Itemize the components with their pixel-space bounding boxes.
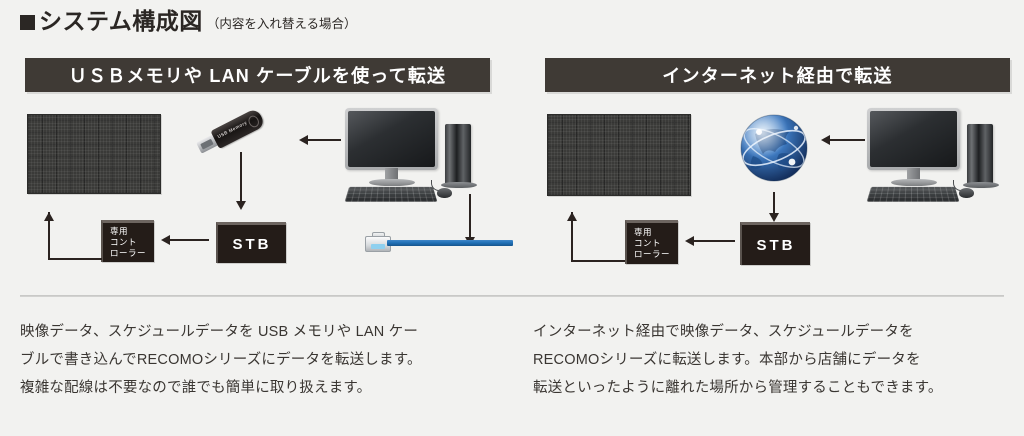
caption-line: ブルで書き込んでRECOMOシリーズにデータを転送します。: [20, 346, 490, 374]
caption-line: 映像データ、スケジュールデータを USB メモリや LAN ケー: [20, 318, 490, 346]
caption-line: 複雑な配線は不要なので誰でも簡単に取り扱えます。: [20, 374, 490, 402]
controller-line-2: コント: [110, 237, 137, 248]
arrow-controller-to-panel: [48, 212, 102, 260]
pc-tower-icon: [445, 124, 471, 186]
pc-tower-base: [441, 182, 477, 188]
monitor-stand-base: [891, 179, 937, 186]
arrow-controller-to-panel: [571, 212, 625, 262]
stb-box: STB: [740, 222, 810, 265]
system-diagram-page: システム構成図 （内容を入れ替える場合） ＵＳＢメモリや LAN ケーブルを使っ…: [0, 0, 1024, 436]
controller-line-1: 専用: [110, 226, 128, 237]
column-header-usb-lan: ＵＳＢメモリや LAN ケーブルを使って転送: [25, 58, 490, 92]
column-usb-lan: ＵＳＢメモリや LAN ケーブルを使って転送 USB Memory: [25, 58, 495, 308]
diagram-internet: STB 専用 コント ローラー: [545, 102, 1015, 302]
led-display-panel: [547, 114, 691, 196]
controller-line-3: ローラー: [110, 248, 146, 259]
section-divider: [20, 295, 1004, 297]
page-title-main: システム構成図: [39, 10, 203, 33]
keyboard-icon: [345, 187, 438, 202]
arrow-pc-to-usb: [299, 134, 341, 146]
pc-tower-icon: [967, 124, 993, 186]
dedicated-controller-box: 専用 コント ローラー: [625, 220, 678, 264]
caption-line: RECOMOシリーズに転送します。本部から店舗にデータを: [533, 346, 1003, 374]
caption-usb-lan: 映像データ、スケジュールデータを USB メモリや LAN ケー ブルで書き込ん…: [20, 318, 490, 402]
title-bullet-icon: [20, 15, 35, 30]
controller-line-2: コント: [634, 238, 661, 249]
caption-line: インターネット経由で映像データ、スケジュールデータを: [533, 318, 1003, 346]
keyboard-icon: [867, 187, 960, 202]
mouse-icon: [959, 188, 974, 198]
column-internet: インターネット経由で転送: [545, 58, 1015, 308]
led-display-panel: [27, 114, 161, 194]
page-title-sub: （内容を入れ替える場合）: [207, 13, 357, 32]
monitor-icon: [867, 108, 960, 170]
arrow-stb-to-controller: [161, 234, 209, 246]
controller-line-1: 専用: [634, 227, 652, 238]
header-bar-label: ＵＳＢメモリや LAN ケーブルを使って転送: [25, 58, 490, 92]
mouse-icon: [437, 188, 452, 198]
globe-svg: [735, 108, 813, 186]
monitor-screen: [348, 111, 435, 167]
pc-workstation: [345, 108, 480, 203]
internet-globe-icon: [735, 108, 813, 186]
column-header-internet: インターネット経由で転送: [545, 58, 1010, 92]
arrow-usb-to-stb: [234, 152, 248, 210]
monitor-screen: [870, 111, 957, 167]
page-title: システム構成図 （内容を入れ替える場合）: [20, 10, 356, 33]
arrow-internet-to-stb: [767, 192, 781, 222]
lan-cable-icon: [365, 236, 515, 252]
arrow-stb-to-controller: [685, 235, 735, 247]
diagram-usb-lan: USB Memory: [25, 102, 495, 302]
controller-line-3: ローラー: [634, 249, 670, 260]
stb-box: STB: [216, 222, 286, 263]
header-bar-label: インターネット経由で転送: [545, 58, 1010, 92]
arrow-pc-to-internet: [821, 134, 865, 146]
caption-internet: インターネット経由で映像データ、スケジュールデータを RECOMOシリーズに転送…: [533, 318, 1003, 402]
pc-tower-base: [963, 182, 999, 188]
monitor-icon: [345, 108, 438, 170]
monitor-stand-base: [369, 179, 415, 186]
dedicated-controller-box: 専用 コント ローラー: [101, 220, 154, 262]
lan-wire: [387, 240, 513, 246]
usb-memory-icon: USB Memory: [194, 103, 275, 159]
caption-line: 転送といったように離れた場所から管理することもできます。: [533, 374, 1003, 402]
pc-workstation: [867, 108, 1002, 203]
